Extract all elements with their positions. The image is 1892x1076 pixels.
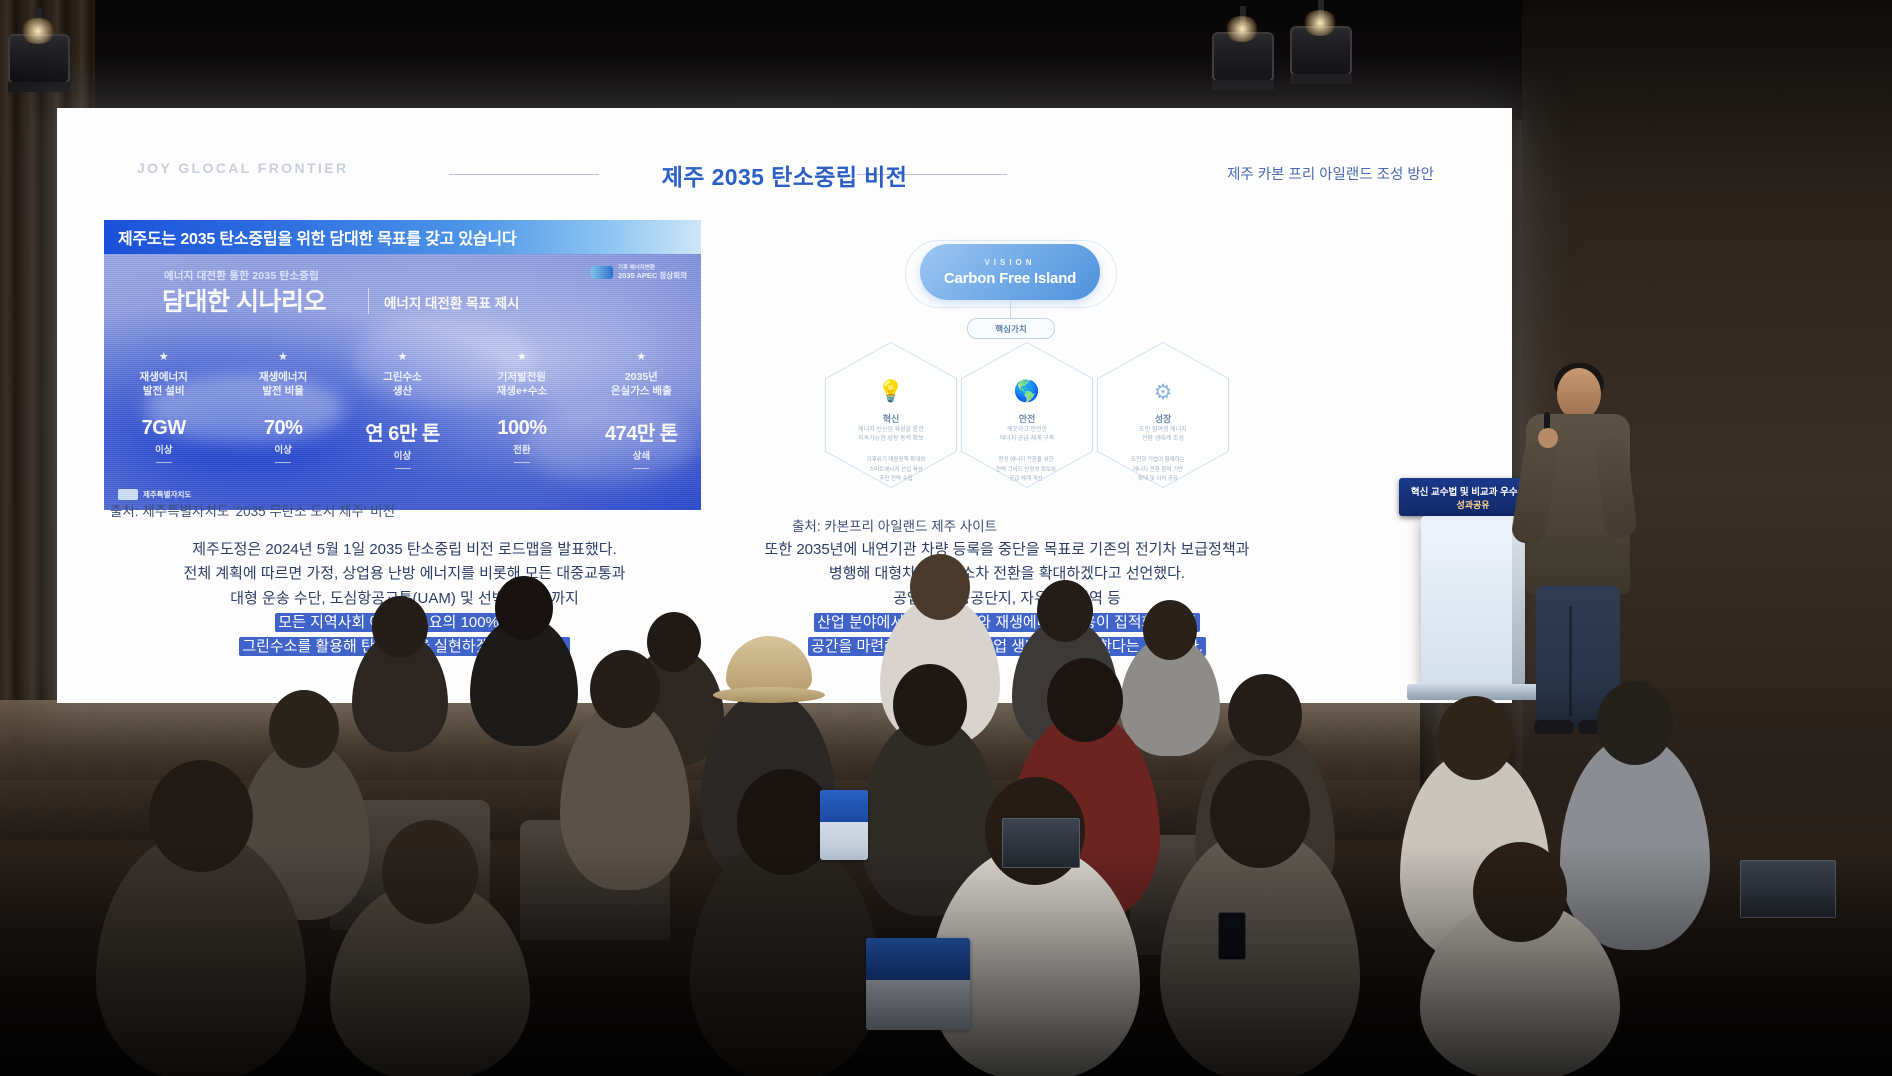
paragraph-line: 전체 계획에 따르면 가정, 상업용 난방 에너지를 비롯해 모든 대중교통과 bbox=[132, 562, 677, 586]
laptop bbox=[1740, 860, 1836, 918]
card-eyebrow: 에너지 대전환 통한 2035 탄소중립 bbox=[164, 268, 319, 283]
stat-label: 2035년 온실가스 배출 bbox=[582, 370, 701, 398]
right-body-paragraph: 또한 2035년에 내연기관 차량 등록을 중단을 목표로 기존의 전기차 보급… bbox=[717, 538, 1297, 659]
stat-unit: 이상 bbox=[104, 442, 223, 456]
pillar-note: 청정 에너지 전환을 위한 전력 그리드 안정성 확보와 공급 체계 개선 bbox=[967, 456, 1085, 485]
target-stats-row: ★ 재생에너지 발전 설비 7GW 이상 ★ 재생에너지 발전 비율 70% 이… bbox=[104, 352, 701, 469]
stat-rule bbox=[514, 462, 530, 463]
stat-unit: 이상 bbox=[223, 442, 342, 456]
jeju-province-logo: 제주특별자치도 bbox=[118, 489, 191, 500]
speaker-head bbox=[1557, 368, 1601, 420]
left-source-caption: 출처: 제주특별자치도 '2035 무탄소 도시 제주' 비전 bbox=[110, 500, 395, 520]
vision-pill: VISION Carbon Free Island bbox=[920, 244, 1100, 300]
paragraph-highlight: 산업 분야에서도 그린수소와 재생에너지 활용이 집적화되도록 bbox=[814, 613, 1200, 632]
star-icon: ★ bbox=[223, 352, 342, 363]
laptop bbox=[1002, 818, 1080, 868]
speaker-shoe-left bbox=[1534, 720, 1574, 734]
slide-header-right-label: 제주 카본 프리 아일랜드 조성 방안 bbox=[1227, 163, 1434, 184]
card-divider bbox=[368, 288, 369, 314]
pillar-note: 기후위기 대응정책 확대와 스마트에너지 산업 육성 추진 전략 수립 bbox=[837, 456, 955, 485]
jeju-logo-icon bbox=[118, 489, 138, 500]
right-panel-vision-diagram: VISION Carbon Free Island 핵심가치 💡 혁신 에너지 … bbox=[817, 238, 1237, 528]
star-icon: ★ bbox=[462, 352, 581, 363]
pillar-name: 안전 bbox=[961, 412, 1093, 425]
core-value-tag: 핵심가치 bbox=[967, 318, 1055, 339]
pillar-note: 도민과 기업이 함께하는 에너지 전환 참여 기반 확대 및 이익 공유 bbox=[1099, 456, 1217, 485]
vision-title: Carbon Free Island bbox=[944, 270, 1076, 287]
stat-label: 재생에너지 발전 비율 bbox=[223, 370, 342, 398]
projection-screen: JOY GLOCAL FRONTIER 제주 2035 탄소중립 비전 제주 카… bbox=[57, 108, 1512, 703]
apec-badge-small-text: 기후 에너지변환 bbox=[618, 266, 687, 272]
star-icon: ★ bbox=[582, 352, 701, 363]
stat-unit: 상쇄 bbox=[582, 448, 701, 462]
paragraph-line: 공업지역, 농공단지, 자유무역지역 등 bbox=[717, 587, 1297, 611]
stat-value: 70% bbox=[223, 417, 342, 440]
speaker-presenter bbox=[1520, 368, 1635, 738]
stat-value: 100% bbox=[462, 417, 581, 440]
left-panel-banner-text: 제주도는 2035 탄소중립을 위한 담대한 목표를 갖고 있습니다 bbox=[104, 225, 516, 249]
right-source-caption: 출처: 카본프리 아일랜드 제주 사이트 bbox=[792, 515, 997, 535]
smartphone bbox=[1218, 912, 1246, 960]
apec-logo-icon bbox=[591, 266, 613, 279]
vision-eyebrow: VISION bbox=[984, 258, 1035, 267]
stat-label: 재생에너지 발전 설비 bbox=[104, 370, 223, 398]
speaker-leg-split bbox=[1569, 606, 1572, 716]
vision-connector-line bbox=[1010, 300, 1011, 320]
stat-rule bbox=[633, 468, 649, 469]
pillar-desc: 에너지 신산업 육성을 통한 지속가능한 성장 동력 확보 bbox=[837, 426, 945, 444]
ceiling-spotlight-left bbox=[8, 8, 70, 92]
pillar-name: 혁신 bbox=[825, 412, 957, 425]
card-subhead: 에너지 대전환 목표 제시 bbox=[384, 292, 519, 312]
stat-rule bbox=[395, 468, 411, 469]
stat-unit: 전환 bbox=[462, 442, 581, 456]
apec-badge: 기후 에너지변환 2035 APEC 정상회의 bbox=[591, 266, 687, 280]
paragraph-line: 또한 2035년에 내연기관 차량 등록을 중단을 목표로 기존의 전기차 보급… bbox=[717, 538, 1297, 562]
network-icon: ⚙ bbox=[1097, 380, 1229, 405]
placard bbox=[866, 938, 970, 1030]
jeju-logo-text: 제주특별자치도 bbox=[143, 489, 191, 500]
stat-rule bbox=[156, 462, 172, 463]
stat-value: 7GW bbox=[104, 417, 223, 440]
left-panel: 제주도는 2035 탄소중립을 위한 담대한 목표를 갖고 있습니다 에너지 대… bbox=[104, 220, 701, 510]
star-icon: ★ bbox=[104, 352, 223, 363]
stat-item: ★ 2035년 온실가스 배출 474만 톤 상쇄 bbox=[582, 352, 701, 469]
stat-rule bbox=[275, 462, 291, 463]
podium-body bbox=[1421, 516, 1525, 686]
speaker-hand bbox=[1538, 428, 1558, 448]
ceiling-spotlight-right-a bbox=[1212, 6, 1274, 90]
paragraph-line: 병행해 대형차량의 수소차 전환을 확대하겠다고 선언했다. bbox=[717, 562, 1297, 586]
globe-icon: 🌎 bbox=[961, 380, 1093, 404]
stat-label: 그린수소 생산 bbox=[343, 370, 462, 398]
pillar-name: 성장 bbox=[1097, 412, 1229, 425]
apec-badge-big-text: 2035 APEC 정상회의 bbox=[618, 272, 687, 280]
left-panel-banner: 제주도는 2035 탄소중립을 위한 담대한 목표를 갖고 있습니다 bbox=[104, 220, 701, 254]
stat-value: 474만 톤 bbox=[582, 417, 701, 446]
star-icon: ★ bbox=[343, 352, 462, 363]
paragraph-line: 제주도정은 2024년 5월 1일 2035 탄소중립 비전 로드맵을 발표했다… bbox=[132, 538, 677, 562]
pillar-desc: 깨끗하고 안전한 에너지 공급 체계 구축 bbox=[973, 426, 1081, 444]
placard bbox=[820, 790, 868, 860]
pillar-desc: 도민 참여형 에너지 전환 생태계 조성 bbox=[1109, 426, 1217, 444]
stat-item: ★ 재생에너지 발전 설비 7GW 이상 bbox=[104, 352, 223, 469]
stat-label: 기저발전원 재생e+수소 bbox=[462, 370, 581, 398]
conference-hall-photo: JOY GLOCAL FRONTIER 제주 2035 탄소중립 비전 제주 카… bbox=[0, 0, 1892, 1076]
lightbulb-icon: 💡 bbox=[825, 380, 957, 404]
stat-unit: 이상 bbox=[343, 448, 462, 462]
stat-item: ★ 기저발전원 재생e+수소 100% 전환 bbox=[462, 352, 581, 469]
stat-item: ★ 재생에너지 발전 비율 70% 이상 bbox=[223, 352, 342, 469]
ceiling-spotlight-right-b bbox=[1290, 0, 1352, 84]
scenario-image-card: 에너지 대전환 통한 2035 탄소중립 담대한 시나리오 에너지 대전환 목표… bbox=[104, 254, 701, 510]
card-headline: 담대한 시나리오 bbox=[162, 282, 326, 318]
stat-item: ★ 그린수소 생산 연 6만 톤 이상 bbox=[343, 352, 462, 469]
stat-value: 연 6만 톤 bbox=[343, 417, 462, 446]
